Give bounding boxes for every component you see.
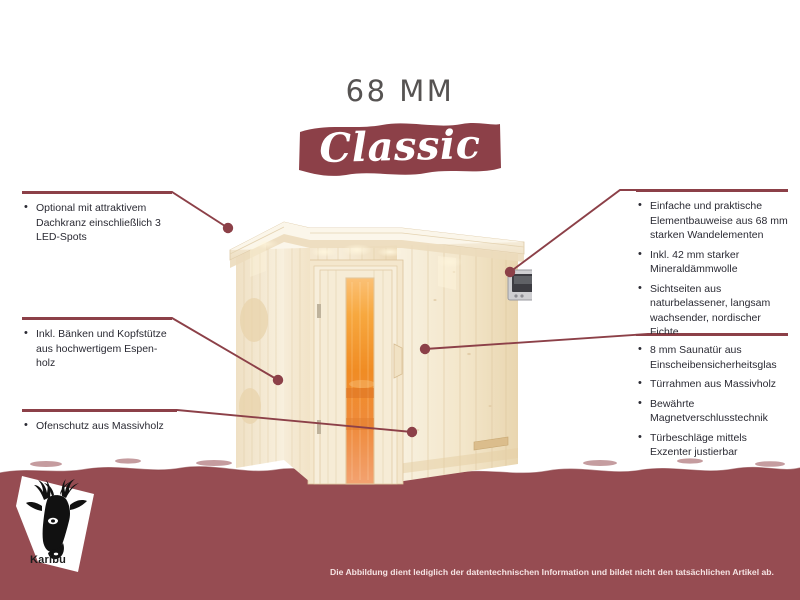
poster-canvas: 68 MM Classic Optional mit attraktivem D… <box>0 0 800 600</box>
callout-wall-elements: Einfache und praktische Elementbauweise … <box>636 190 788 345</box>
callout-bullet: Bewährte Magnetverschlusstechnik <box>636 397 788 426</box>
callout-rule <box>636 334 788 336</box>
callout-bullet: Inkl. Bänken und Kopfstütze aus hochwert… <box>22 327 172 371</box>
callout-bullet: Einfache und praktische Elementbauweise … <box>636 199 788 243</box>
disclaimer-text: Die Abbildung dient lediglich der datent… <box>330 566 795 578</box>
callout-bullet: Inkl. 42 mm starker Mineraldämmwolle <box>636 248 788 277</box>
callout-roof-crown: Optional mit attraktivem Dachkranz einsc… <box>22 192 172 250</box>
callout-bullet: Türrahmen aus Massivholz <box>636 377 788 392</box>
callout-bullet: Optional mit attraktivem Dachkranz einsc… <box>22 201 172 245</box>
karibu-logo <box>8 466 118 586</box>
callout-rule <box>22 318 172 320</box>
thickness-title: 68 MM <box>0 74 800 108</box>
brand-name: Karibu <box>30 554 66 566</box>
callout-bullet: Türbeschläge mittels Exzenter justierbar <box>636 431 788 460</box>
callout-rule <box>636 190 788 192</box>
callout-benches: Inkl. Bänken und Kopfstütze aus hochwert… <box>22 318 172 376</box>
callout-rule <box>22 410 177 412</box>
model-name: Classic <box>295 115 504 180</box>
sauna-cabin-image <box>222 192 532 492</box>
callout-bullet: Sichtseiten aus naturbelassener, langsam… <box>636 282 788 340</box>
sauna-control-panel-icon <box>508 270 532 300</box>
callout-sauna-door: 8 mm Saunatür aus Einscheibensicherheits… <box>636 334 788 465</box>
callout-bullet: 8 mm Saunatür aus Einscheibensicherheits… <box>636 343 788 372</box>
callout-bullet: Ofenschutz aus Massivholz <box>22 419 177 434</box>
callout-stove-guard: Ofenschutz aus Massivholz <box>22 410 177 439</box>
model-badge: Classic <box>296 118 504 178</box>
callout-rule <box>22 192 172 194</box>
